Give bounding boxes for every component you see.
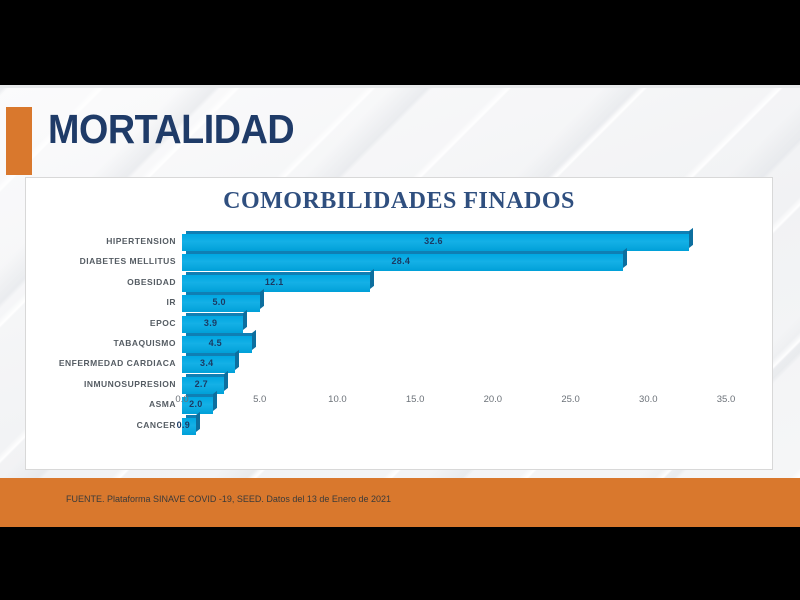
bar-category-label: TABAQUISMO	[26, 338, 176, 348]
slide-header: MORTALIDAD	[0, 85, 800, 177]
bar-side-face	[243, 309, 247, 329]
letterbox-bottom	[0, 527, 800, 600]
bar-side-face	[689, 228, 693, 248]
bar-side-face	[623, 248, 627, 268]
letterbox-top	[0, 0, 800, 85]
x-axis-tick-label: 35.0	[717, 394, 736, 405]
bar-value-label: 32.6	[424, 236, 443, 246]
x-axis-tick-label: 15.0	[406, 394, 425, 405]
bar-value-label: 5.0	[212, 297, 225, 307]
chart-plot-area: HIPERTENSION32.6DIABETES MELLITUS28.4OBE…	[26, 231, 774, 471]
bar-row: HIPERTENSION32.6	[26, 233, 774, 253]
presentation-slide: MORTALIDAD Contigoal100 COMORBILIDADES F…	[0, 0, 800, 600]
bar-value-label: 0.9	[177, 420, 190, 430]
x-axis-tick-label: 5.0	[253, 394, 266, 405]
bar-row: IR5.0	[26, 294, 774, 314]
slide-body: MORTALIDAD Contigoal100 COMORBILIDADES F…	[0, 85, 800, 527]
bar-side-face	[252, 330, 256, 350]
bar-side-face	[370, 269, 374, 289]
bar-row: OBESIDAD12.1	[26, 274, 774, 294]
page-title: MORTALIDAD	[48, 109, 294, 150]
footer-band: FUENTE. Plataforma SINAVE COVID -19, SEE…	[0, 478, 800, 527]
bar-category-label: HIPERTENSION	[26, 236, 176, 246]
x-axis-tick-label: 20.0	[484, 394, 503, 405]
bar-category-label: DIABETES MELLITUS	[26, 256, 176, 266]
chart-title: COMORBILIDADES FINADOS	[26, 188, 772, 215]
bar-category-label: EPOC	[26, 318, 176, 328]
bar-value-label: 3.9	[204, 318, 217, 328]
chart-panel: COMORBILIDADES FINADOS HIPERTENSION32.6D…	[25, 177, 773, 470]
bar-category-label: IR	[26, 297, 176, 307]
bar-value-label: 3.4	[200, 358, 213, 368]
bar-value-label: 4.5	[209, 338, 222, 348]
bar-category-label: ENFERMEDAD CARDIACA	[26, 358, 176, 368]
bar-row: EPOC3.9	[26, 315, 774, 335]
x-axis-tick-label: 30.0	[639, 394, 658, 405]
bar-value-label: 12.1	[265, 277, 284, 287]
bar-side-face	[196, 411, 200, 431]
bar-side-face	[235, 350, 239, 370]
x-axis-tick-label: 25.0	[561, 394, 580, 405]
bar-value-label: 28.4	[392, 256, 411, 266]
x-axis-tick-label: 10.0	[328, 394, 347, 405]
bar-side-face	[260, 289, 264, 309]
chart-x-axis: 0.05.010.015.020.025.030.035.0	[26, 388, 774, 414]
bar-row: ENFERMEDAD CARDIACA3.4	[26, 355, 774, 375]
bar-category-label: OBESIDAD	[26, 277, 176, 287]
bar-category-label: CANCER	[26, 420, 176, 430]
bar-row: TABAQUISMO4.5	[26, 335, 774, 355]
bar-row: DIABETES MELLITUS28.4	[26, 253, 774, 273]
footer-source-text: FUENTE. Plataforma SINAVE COVID -19, SEE…	[66, 494, 391, 504]
bar-row: CANCER0.9	[26, 417, 774, 437]
x-axis-tick-label: 0.0	[175, 394, 188, 405]
orange-accent-bar	[6, 107, 32, 175]
